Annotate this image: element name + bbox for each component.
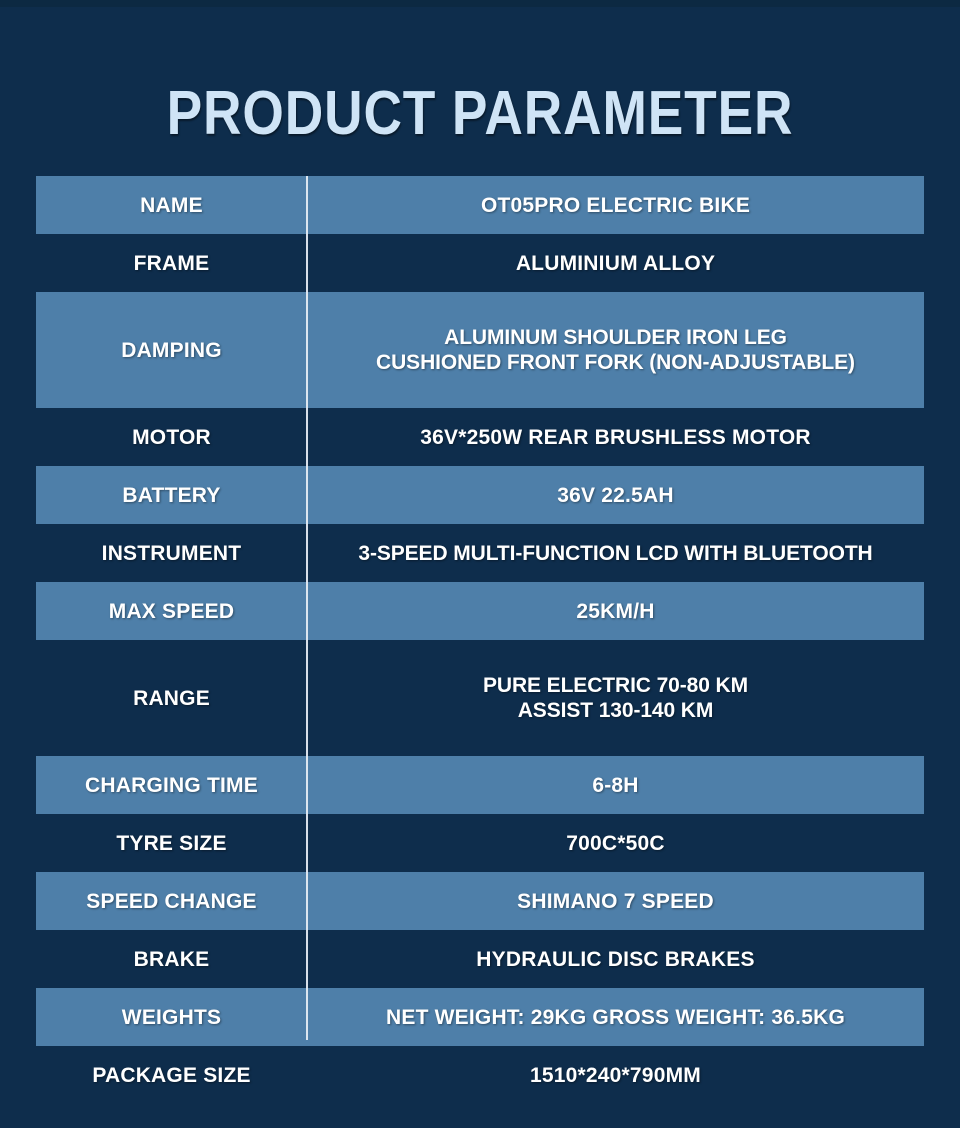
parameter-label: CHARGING TIME — [85, 773, 258, 798]
page-title: PRODUCT PARAMETER — [67, 78, 893, 150]
parameter-value-cell: 36V*250W REAR BRUSHLESS MOTOR — [307, 408, 924, 466]
parameter-label: INSTRUMENT — [102, 541, 242, 566]
table-row: MOTOR36V*250W REAR BRUSHLESS MOTOR — [36, 408, 924, 466]
parameter-label-cell: WEIGHTS — [36, 988, 307, 1046]
parameter-value-cell: 1510*240*790MM — [307, 1046, 924, 1104]
parameter-value-cell: PURE ELECTRIC 70-80 KM ASSIST 130-140 KM — [307, 640, 924, 756]
parameter-value-cell: NET WEIGHT: 29KG GROSS WEIGHT: 36.5KG — [307, 988, 924, 1046]
table-row: BRAKEHYDRAULIC DISC BRAKES — [36, 930, 924, 988]
parameter-label: MAX SPEED — [109, 599, 235, 624]
parameter-value: 1510*240*790MM — [530, 1063, 701, 1088]
parameter-label-cell: SPEED CHANGE — [36, 872, 307, 930]
parameter-value-cell: 6-8H — [307, 756, 924, 814]
table-row: SPEED CHANGESHIMANO 7 SPEED — [36, 872, 924, 930]
parameter-label-cell: BATTERY — [36, 466, 307, 524]
parameter-value-cell: OT05PRO ELECTRIC BIKE — [307, 176, 924, 234]
parameter-value: 25KM/H — [576, 599, 654, 624]
parameter-value-cell: HYDRAULIC DISC BRAKES — [307, 930, 924, 988]
parameter-label-cell: FRAME — [36, 234, 307, 292]
parameter-value: 36V*250W REAR BRUSHLESS MOTOR — [420, 425, 811, 450]
parameter-label: FRAME — [134, 251, 210, 276]
parameter-value-cell: SHIMANO 7 SPEED — [307, 872, 924, 930]
table-row: CHARGING TIME6-8H — [36, 756, 924, 814]
parameter-label-cell: CHARGING TIME — [36, 756, 307, 814]
table-row: PACKAGE SIZE1510*240*790MM — [36, 1046, 924, 1104]
parameter-label: TYRE SIZE — [116, 831, 226, 856]
product-parameter-page: PRODUCT PARAMETER NAMEOT05PRO ELECTRIC B… — [0, 0, 960, 1128]
parameter-value-cell: 3-SPEED MULTI-FUNCTION LCD WITH BLUETOOT… — [307, 524, 924, 582]
table-row: TYRE SIZE700C*50C — [36, 814, 924, 872]
table-row: DAMPINGALUMINUM SHOULDER IRON LEG CUSHIO… — [36, 292, 924, 408]
parameter-value-cell: ALUMINIUM ALLOY — [307, 234, 924, 292]
parameter-value: PURE ELECTRIC 70-80 KM ASSIST 130-140 KM — [483, 673, 748, 723]
parameter-label-cell: INSTRUMENT — [36, 524, 307, 582]
parameter-label-cell: TYRE SIZE — [36, 814, 307, 872]
parameter-label-cell: NAME — [36, 176, 307, 234]
parameter-value: OT05PRO ELECTRIC BIKE — [481, 193, 750, 218]
parameter-value-cell: 25KM/H — [307, 582, 924, 640]
table-row: BATTERY36V 22.5AH — [36, 466, 924, 524]
parameter-value: 700C*50C — [566, 831, 665, 856]
parameter-value: 6-8H — [592, 773, 638, 798]
parameter-value: 36V 22.5AH — [557, 483, 673, 508]
table-row: INSTRUMENT3-SPEED MULTI-FUNCTION LCD WIT… — [36, 524, 924, 582]
parameter-value: NET WEIGHT: 29KG GROSS WEIGHT: 36.5KG — [386, 1005, 845, 1030]
table-row: RANGEPURE ELECTRIC 70-80 KM ASSIST 130-1… — [36, 640, 924, 756]
parameter-label: NAME — [140, 193, 203, 218]
column-divider — [306, 176, 308, 1040]
parameter-label: MOTOR — [132, 425, 211, 450]
parameter-label: BATTERY — [122, 483, 220, 508]
parameter-label-cell: DAMPING — [36, 292, 307, 408]
parameter-value-cell: 36V 22.5AH — [307, 466, 924, 524]
parameter-label-cell: MAX SPEED — [36, 582, 307, 640]
table-row: FRAMEALUMINIUM ALLOY — [36, 234, 924, 292]
table-row: MAX SPEED25KM/H — [36, 582, 924, 640]
parameter-value-cell: 700C*50C — [307, 814, 924, 872]
table-row: WEIGHTSNET WEIGHT: 29KG GROSS WEIGHT: 36… — [36, 988, 924, 1046]
parameter-label: PACKAGE SIZE — [92, 1063, 250, 1088]
parameter-value: 3-SPEED MULTI-FUNCTION LCD WITH BLUETOOT… — [358, 541, 872, 566]
parameter-value: HYDRAULIC DISC BRAKES — [476, 947, 754, 972]
parameter-value: ALUMINIUM ALLOY — [516, 251, 715, 276]
parameter-table: NAMEOT05PRO ELECTRIC BIKEFRAMEALUMINIUM … — [36, 176, 924, 1104]
parameter-label: SPEED CHANGE — [86, 889, 256, 914]
top-edge-strip — [0, 0, 960, 7]
parameter-label: WEIGHTS — [122, 1005, 221, 1030]
parameter-label: DAMPING — [121, 338, 222, 363]
parameter-label-cell: RANGE — [36, 640, 307, 756]
parameter-label-cell: BRAKE — [36, 930, 307, 988]
parameter-value: ALUMINUM SHOULDER IRON LEG CUSHIONED FRO… — [376, 325, 855, 375]
parameter-value: SHIMANO 7 SPEED — [517, 889, 714, 914]
parameter-label-cell: PACKAGE SIZE — [36, 1046, 307, 1104]
parameter-label-cell: MOTOR — [36, 408, 307, 466]
parameter-label: BRAKE — [134, 947, 210, 972]
parameter-value-cell: ALUMINUM SHOULDER IRON LEG CUSHIONED FRO… — [307, 292, 924, 408]
table-row: NAMEOT05PRO ELECTRIC BIKE — [36, 176, 924, 234]
parameter-label: RANGE — [133, 686, 210, 711]
